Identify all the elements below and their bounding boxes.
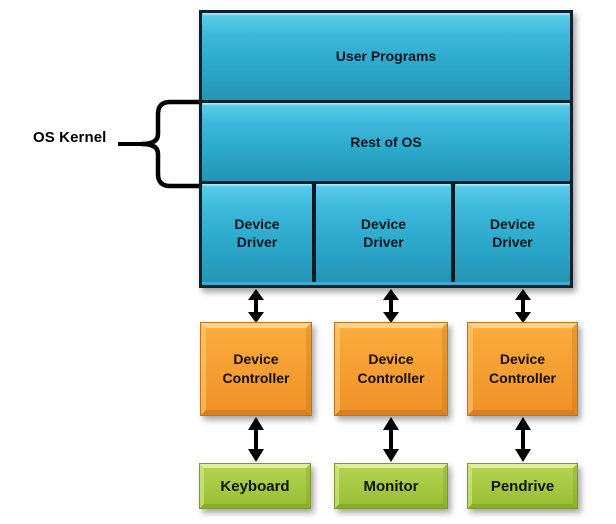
device-controller-label-3-line1: Device bbox=[489, 350, 556, 369]
device-drivers-row: Device Driver Device Driver Device Drive… bbox=[202, 184, 570, 282]
rest-of-os-box[interactable]: Rest of OS bbox=[202, 103, 570, 181]
user-programs-row: User Programs bbox=[202, 13, 570, 103]
device-box-keyboard[interactable]: Keyboard bbox=[199, 463, 311, 509]
device-controller-label-2-line1: Device bbox=[358, 350, 425, 369]
device-driver-box-2[interactable]: Device Driver bbox=[312, 184, 451, 282]
device-controller-label-2-line2: Controller bbox=[358, 369, 425, 388]
device-controller-label-1-line2: Controller bbox=[223, 369, 290, 388]
diagram-canvas: OS Kernel User Programs Rest of OS Devic… bbox=[0, 0, 616, 524]
device-box-monitor[interactable]: Monitor bbox=[334, 463, 448, 509]
device-label-pendrive: Pendrive bbox=[491, 478, 554, 495]
device-controller-box-1[interactable]: Device Controller bbox=[200, 322, 312, 416]
user-programs-box[interactable]: User Programs bbox=[202, 13, 570, 100]
double-arrow-icon bbox=[380, 288, 402, 324]
device-controller-label-3-line2: Controller bbox=[489, 369, 556, 388]
brace-icon bbox=[118, 98, 204, 190]
user-programs-label: User Programs bbox=[336, 47, 436, 65]
double-arrow-icon bbox=[245, 416, 267, 463]
device-label-monitor: Monitor bbox=[364, 478, 419, 495]
double-arrow-icon bbox=[512, 416, 534, 463]
os-kernel-brace bbox=[118, 98, 204, 190]
device-driver-box-3[interactable]: Device Driver bbox=[451, 184, 570, 282]
device-driver-label-3-line1: Device bbox=[490, 215, 535, 233]
double-arrow-icon bbox=[245, 288, 267, 324]
device-driver-label-2-line1: Device bbox=[361, 215, 406, 233]
arrow-controller-device-3 bbox=[512, 416, 534, 468]
arrow-controller-device-2 bbox=[380, 416, 402, 468]
os-stack-container: User Programs Rest of OS Device Driver D… bbox=[199, 10, 573, 288]
device-driver-label-1-line1: Device bbox=[234, 215, 279, 233]
device-controller-label-1-line1: Device bbox=[223, 350, 290, 369]
device-driver-label-1-line2: Driver bbox=[234, 233, 279, 251]
rest-of-os-row: Rest of OS bbox=[202, 103, 570, 184]
device-driver-label-3-line2: Driver bbox=[490, 233, 535, 251]
device-box-pendrive[interactable]: Pendrive bbox=[467, 463, 578, 509]
arrow-controller-device-1 bbox=[245, 416, 267, 468]
double-arrow-icon bbox=[512, 288, 534, 324]
device-controller-box-2[interactable]: Device Controller bbox=[334, 322, 448, 416]
device-driver-box-1[interactable]: Device Driver bbox=[202, 184, 312, 282]
device-controller-box-3[interactable]: Device Controller bbox=[467, 322, 578, 416]
device-driver-label-2-line2: Driver bbox=[361, 233, 406, 251]
double-arrow-icon bbox=[380, 416, 402, 463]
device-label-keyboard: Keyboard bbox=[220, 478, 289, 495]
rest-of-os-label: Rest of OS bbox=[350, 133, 422, 151]
os-kernel-label: OS Kernel bbox=[33, 129, 106, 146]
